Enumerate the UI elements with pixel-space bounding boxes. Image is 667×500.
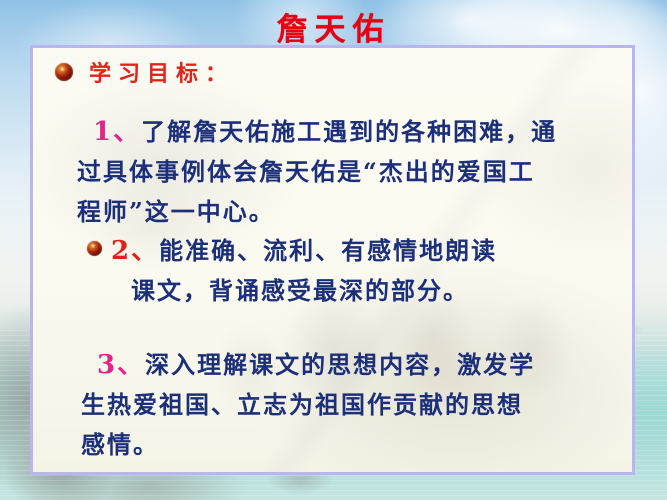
objective-1-line-3: 程师”这一中心。 <box>77 192 557 232</box>
objective-item-1: 1、了解詹天佑施工遇到的各种困难，通 过具体事例体会詹天佑是“杰出的爱国工 程师… <box>93 112 557 232</box>
objective-1-number: 1 <box>93 117 113 147</box>
learning-objectives-heading: 学习目标： <box>55 56 234 88</box>
ornament-bullet-icon <box>55 63 73 81</box>
objective-2-line-2: 课文，背诵感受最深的部分。 <box>131 271 497 311</box>
objective-2-text-block: 2、能准确、流利、有感情地朗读 课文，背诵感受最深的部分。 <box>111 231 497 311</box>
slide-title: 詹天佑 <box>0 4 667 49</box>
objective-3-line-1: 3、深入理解课文的思想内容，激发学 <box>97 345 535 385</box>
objective-item-3: 3、深入理解课文的思想内容，激发学 生热爱祖国、立志为祖国作贡献的思想 感情。 <box>97 345 535 465</box>
objective-1-marker: 、 <box>113 117 141 147</box>
objective-3-line-3: 感情。 <box>81 425 535 465</box>
objective-3-line-2: 生热爱祖国、立志为祖国作贡献的思想 <box>81 385 535 425</box>
learning-objectives-heading-label: 学习目标： <box>89 56 234 88</box>
objective-2-number: 2 <box>111 236 131 266</box>
objective-3-marker: 、 <box>117 350 145 380</box>
objective-item-2: 2、能准确、流利、有感情地朗读 课文，背诵感受最深的部分。 <box>87 231 497 311</box>
objective-1-line-1: 1、了解詹天佑施工遇到的各种困难，通 <box>93 112 557 152</box>
ornament-bullet-icon <box>87 241 102 256</box>
objective-1-text-line-1: 了解詹天佑施工遇到的各种困难，通 <box>141 117 557 146</box>
panel-body: 学习目标： 1、了解詹天佑施工遇到的各种困难，通 过具体事例体会詹天佑是“杰出的… <box>33 48 632 472</box>
objective-3-text-line-1: 深入理解课文的思想内容，激发学 <box>145 350 535 379</box>
content-panel: 学习目标： 1、了解詹天佑施工遇到的各种困难，通 过具体事例体会詹天佑是“杰出的… <box>30 45 635 475</box>
objective-1-line-2: 过具体事例体会詹天佑是“杰出的爱国工 <box>77 152 557 192</box>
objective-2-line-1: 2、能准确、流利、有感情地朗读 <box>111 231 497 271</box>
presentation-slide: 詹天佑 学习目标： 1、了解詹天佑施工遇到的各种困难，通 过具体事例体会詹天佑是… <box>0 0 667 500</box>
objective-3-number: 3 <box>97 350 117 380</box>
objective-2-marker: 、 <box>131 236 159 266</box>
objective-2-text-line-1: 能准确、流利、有感情地朗读 <box>159 236 497 265</box>
